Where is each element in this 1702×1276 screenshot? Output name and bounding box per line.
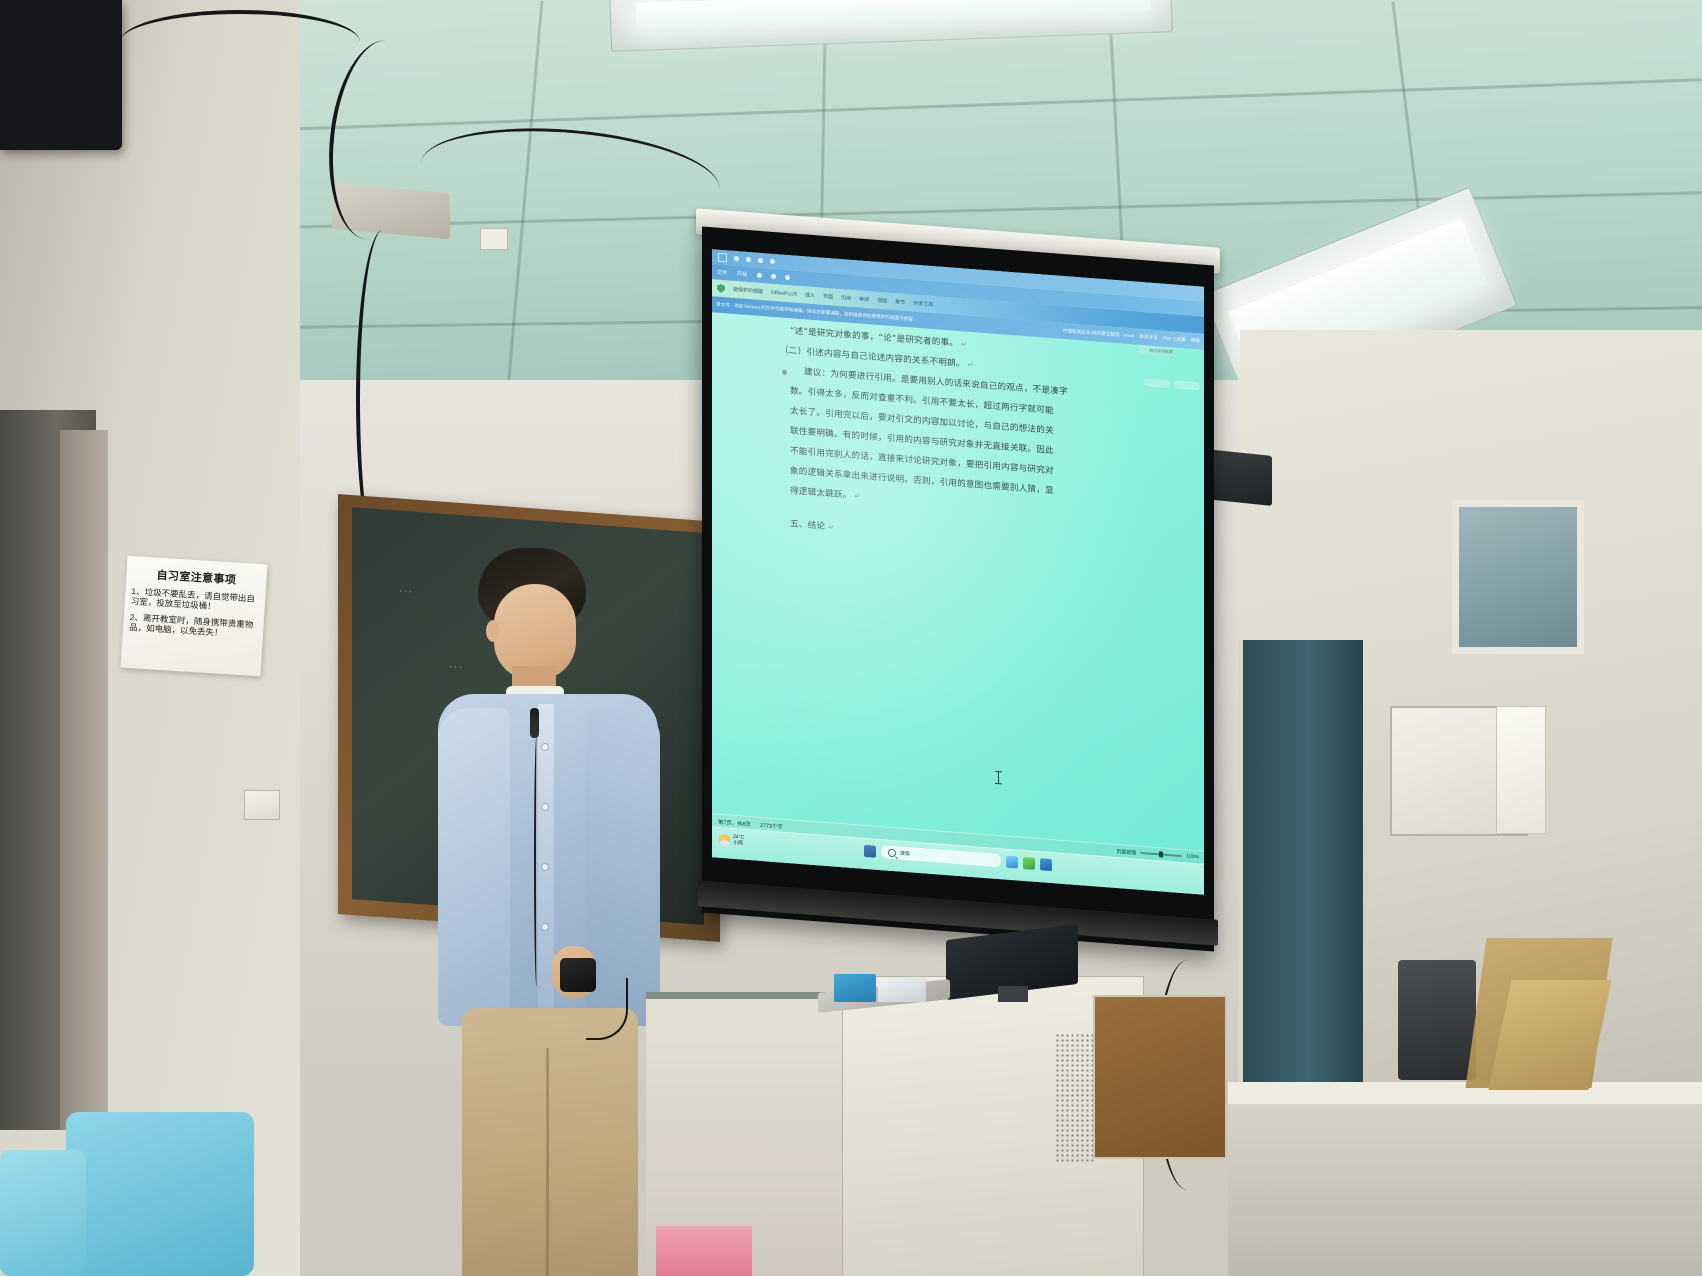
tab-review[interactable]: 审阅 [859,295,869,303]
stage-platform [1228,1082,1702,1276]
tab-developer[interactable]: 开发工具 [913,300,933,309]
view-mode-label[interactable]: 页面视图 [1116,848,1136,857]
podium-cabinet[interactable] [842,976,1144,1276]
pink-panel [656,1226,752,1276]
doc-line-text: 五、结论 [790,520,825,533]
cable-3 [120,10,360,74]
text-cursor [998,771,999,784]
white-box-item [878,978,926,1002]
pilcrow-icon: ↵ [828,524,834,532]
study-room-notice-poster: 自习室注意事项 1、垃圾不要乱丢，请自觉带出自习室，投放至垃圾桶！ 2、离开教室… [121,556,268,677]
document-body[interactable]: “述”是研究对象的事，“论”是研究者的事。 ↵ （二）引述内容与自己论述内容的关… [746,319,1166,564]
trash-bin [1398,960,1476,1080]
classroom-door[interactable] [1238,640,1363,1110]
more-icon[interactable] [785,275,790,280]
tab-officeplus[interactable]: OfficePLUS [771,289,797,297]
tab-page[interactable]: 页面 [823,293,833,301]
task-view-icon[interactable] [864,844,876,857]
share-icon[interactable] [771,274,776,279]
word-count[interactable]: 2773个字 [760,820,783,830]
projector-screen: 文件 开始 受保护的视图 OfficePLUS 插入 页面 引用 审阅 视图 章… [688,228,1240,938]
undo-icon[interactable] [734,256,739,261]
jacket-button [542,924,548,930]
pilcrow-icon: ↵ [961,340,967,348]
presenter-left-sleeve [438,708,510,1026]
poster-title: 自习室注意事项 [132,565,261,589]
tab-member[interactable]: 会员专享 [1139,334,1157,341]
classroom-scene: … … 自习室注意事项 1、垃圾不要乱丢，请自觉带出自习室，投放至垃圾桶！ 2、… [0,0,1702,1276]
weather-desc: 小雨 [733,840,743,847]
blue-box-item [834,974,876,1002]
wall-socket-upper [480,228,508,250]
zoom-level[interactable]: 100% [1186,853,1199,860]
print-preview-icon[interactable] [758,258,763,263]
search-placeholder: 搜索 [900,850,910,858]
tab-home[interactable]: 开始 [737,270,748,278]
taskbar-search-box[interactable]: 搜索 [881,845,1001,867]
tab-file[interactable]: 文件 [717,269,728,277]
lectern-desk [646,980,1166,1276]
cloud-icon[interactable] [770,259,775,264]
poster-line-2: 2、离开教室时，随身携带贵重物品，如电脑，以免丢失！ [129,612,258,641]
jacket-button [542,804,548,810]
doc-line-text: 得逻辑太跳跃。 [790,486,852,501]
save-icon[interactable] [718,253,727,263]
pilcrow-icon: ↵ [855,492,861,500]
tab-pdf-tools[interactable]: PDF工具集 [1163,336,1186,344]
projected-display[interactable]: 文件 开始 受保护的视图 OfficePLUS 插入 页面 引用 审阅 视图 章… [712,249,1204,894]
phone-link-icon[interactable] [1006,855,1018,868]
microphone-cable [534,736,539,986]
jacket-button [542,744,548,750]
comment-icon[interactable] [757,273,762,278]
tab-reference[interactable]: 引用 [841,294,851,302]
wechat-icon[interactable] [1023,856,1035,869]
zoom-slider[interactable] [1140,852,1182,857]
redo-icon[interactable] [746,257,751,262]
presenter-ear [486,620,500,642]
document-page[interactable]: “述”是研究对象的事，“论”是研究者的事。 ↵ （二）引述内容与自己论述内容的关… [712,312,1204,874]
weather-icon [719,834,730,846]
laptop-hinge [998,986,1028,1002]
window-title: 中国知网论文-修改意见整理 - Word [1063,328,1135,339]
bullet-icon [782,369,787,374]
blue-storage-box [66,1112,254,1276]
zoom-slider-knob[interactable] [1159,851,1163,857]
wall-monitor [0,0,122,150]
wall-socket [244,790,280,820]
speaker-grille [1055,1033,1095,1163]
shield-icon [717,284,725,294]
jacket-button [542,864,548,870]
microphone-icon [530,708,539,738]
tab-insert[interactable]: 插入 [805,291,815,299]
tab-view[interactable]: 视图 [877,297,887,305]
cabinet-door[interactable] [1093,995,1227,1159]
blue-storage-box-2 [0,1150,86,1276]
pilcrow-icon: ↵ [968,361,974,369]
search-icon [888,848,896,857]
wall-paper-sheet [1496,706,1546,834]
weather-widget[interactable]: 24°C 小雨 [719,833,744,847]
presenter-trousers [462,1008,638,1276]
protected-view-label: 受保护的视图 [733,286,763,295]
left-door-panel[interactable] [60,430,108,1130]
tab-section[interactable]: 章节 [895,298,905,306]
tab-help[interactable]: 帮助 [1191,338,1200,345]
wps-icon[interactable] [1040,858,1052,871]
poster-line-1: 1、垃圾不要乱丢，请自觉带出自习室，投放至垃圾桶！ [130,586,259,615]
presenter-trouser-seam [546,1048,549,1276]
window [1452,500,1584,654]
